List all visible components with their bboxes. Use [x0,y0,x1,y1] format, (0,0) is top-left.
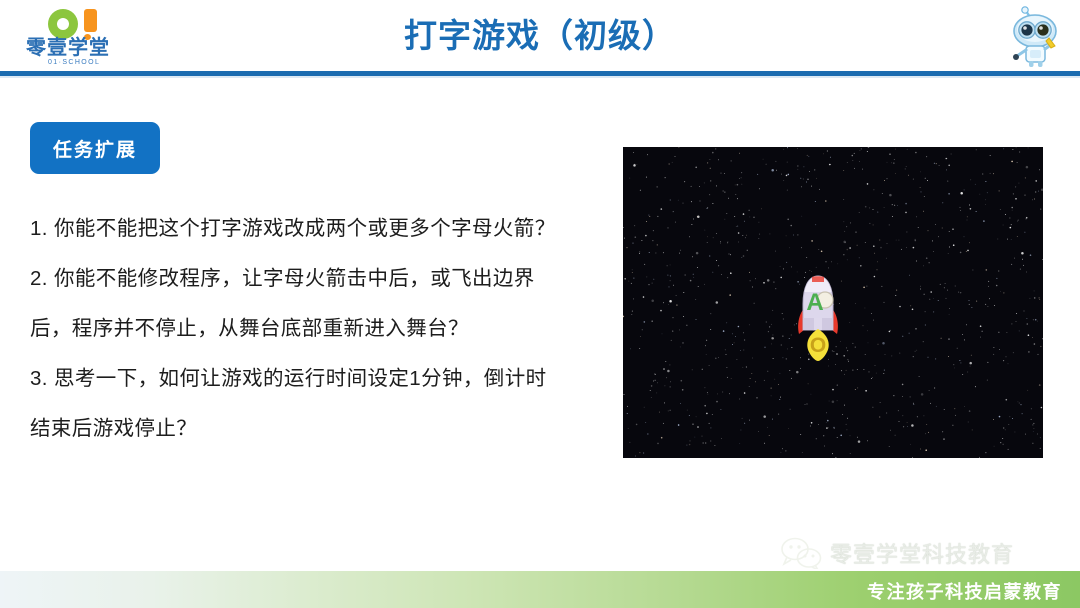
robot-mascot-icon [1002,4,1068,70]
task-line: 结束后游戏停止？ [30,404,615,454]
page-title: 打字游戏（初级） [0,16,1080,56]
rocket-sprite: A O [792,272,844,362]
task-line: 3. 思考一下，如何让游戏的运行时间设定1分钟，倒计时 [30,354,615,404]
rocket-flame-letter: O [810,334,826,357]
footer-slogan: 专注孩子科技启蒙教育 [0,578,1062,604]
task-line: 后，程序并不停止，从舞台底部重新进入舞台？ [30,304,615,354]
task-line: 2. 你能不能修改程序，让字母火箭击中后，或飞出边界 [30,254,615,304]
logo-name-en: 01·SCHOOL [48,59,100,66]
wechat-icon [780,537,822,569]
task-line: 1. 你能不能把这个打字游戏改成两个或更多个字母火箭？ [30,204,615,254]
task-extension-badge: 任务扩展 [30,122,160,174]
task-list: 1. 你能不能把这个打字游戏改成两个或更多个字母火箭？ 2. 你能不能修改程序，… [30,204,615,454]
header-divider-soft [0,76,1080,78]
wechat-account: 零壹学堂科技教育 [780,533,1070,573]
space-stage-figure: A O [623,147,1043,458]
rocket-body-letter: A [806,289,823,316]
wechat-account-name: 零壹学堂科技教育 [830,537,1014,569]
slide-header: 零壹学堂 01·SCHOOL 打字游戏（初级） [0,0,1080,77]
